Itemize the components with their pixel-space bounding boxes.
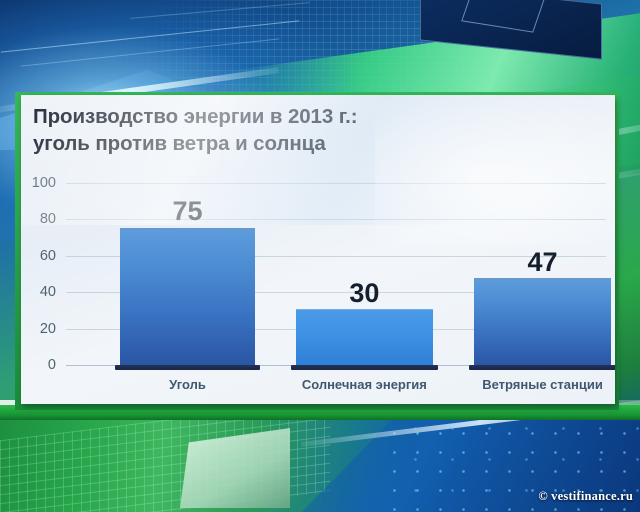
category-label-wind: Ветряные станции [482,377,603,392]
bar-wind[interactable] [474,278,612,365]
bar-coal[interactable] [120,228,255,366]
y-tick-label-100: 100 [32,175,66,191]
y-tick-label-60: 60 [40,248,66,264]
bar-base-shadow-coal [115,365,260,370]
chart-title-line-1: Производство энергии в 2013 г.: [33,105,357,128]
screenshot-stage: Производство энергии в 2013 г.: уголь пр… [0,0,640,512]
chart-panel: Производство энергии в 2013 г.: уголь пр… [21,95,615,404]
category-label-coal: Уголь [169,377,206,392]
y-tick-label-0: 0 [48,357,66,373]
y-tick-label-80: 80 [40,211,66,227]
y-tick-label-20: 20 [40,321,66,337]
bar-value-solar: 30 [349,280,379,307]
bar-base-shadow-solar [291,365,439,370]
chart-title-line-2: уголь против ветра и солнца [33,130,553,157]
bar-column-coal[interactable]: 75 Уголь [120,183,255,365]
bar-value-coal: 75 [172,198,202,225]
bar-series: 75 Уголь 30 Солнечная энергия 47 Ветряны… [66,183,606,365]
bar-base-shadow-wind [469,365,615,370]
category-label-solar: Солнечная энергия [302,377,427,392]
watermark: © vestifinance.ru [538,489,633,504]
bar-value-wind: 47 [528,249,558,276]
chart-title: Производство энергии в 2013 г.: уголь пр… [33,103,553,157]
bar-column-wind[interactable]: 47 Ветряные станции [474,183,612,365]
bar-solar[interactable] [296,309,434,365]
bar-column-solar[interactable]: 30 Солнечная энергия [296,183,434,365]
y-tick-label-40: 40 [40,284,66,300]
plot-area: 100 80 60 40 20 0 75 [66,183,606,365]
